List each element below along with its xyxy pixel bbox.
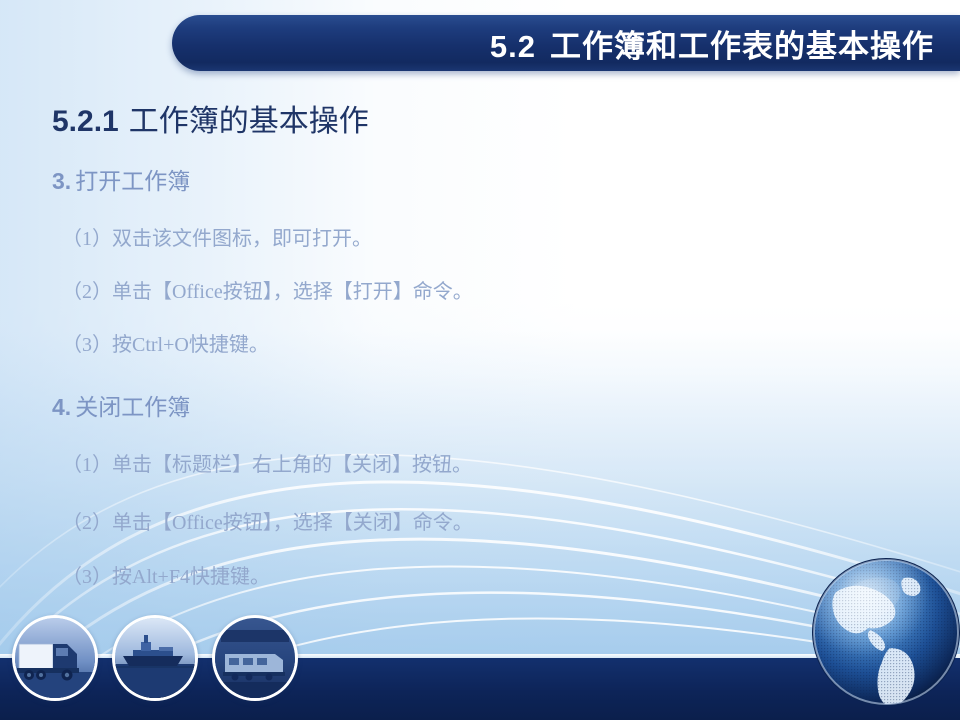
block-3-number: 3. (52, 168, 71, 194)
slide-canvas: 5.2工作簿和工作表的基本操作 5.2.1工作簿的基本操作 3.打开工作簿 （1… (0, 0, 960, 720)
block-3-item-3: （3）按Ctrl+O快捷键。 (62, 328, 269, 357)
section-heading: 5.2.1工作簿的基本操作 (52, 96, 369, 140)
truck-photo (12, 615, 98, 701)
block-4-item-2: （2）单击【Office按钮】，选择【关闭】命令。 (62, 506, 473, 535)
block-3-item-2: （2）单击【Office按钮】，选择【打开】命令。 (62, 275, 473, 304)
block-4-label: 关闭工作簿 (75, 395, 190, 420)
train-photo (212, 615, 298, 701)
section-heading-label: 工作簿的基本操作 (129, 105, 369, 138)
block-4-number: 4. (52, 394, 71, 420)
block-3-label: 打开工作簿 (75, 169, 190, 194)
ship-photo (112, 615, 198, 701)
block-3-item-1: （1）双击该文件图标，即可打开。 (62, 222, 372, 251)
slide-title-banner: 5.2工作簿和工作表的基本操作 (172, 15, 960, 71)
block-4-item-1: （1）单击【标题栏】右上角的【关闭】按钮。 (62, 448, 472, 477)
block-3-heading: 3.打开工作簿 (52, 162, 190, 196)
slide-title-number: 5.2 (490, 29, 536, 64)
slide-title-text: 5.2工作簿和工作表的基本操作 (490, 21, 934, 66)
slide-title-label: 工作簿和工作表的基本操作 (550, 29, 934, 64)
globe-graphic (806, 552, 960, 712)
block-4-item-3: （3）按Alt+F4快捷键。 (62, 560, 270, 589)
block-4-heading: 4.关闭工作簿 (52, 388, 190, 422)
section-heading-number: 5.2.1 (52, 105, 119, 138)
